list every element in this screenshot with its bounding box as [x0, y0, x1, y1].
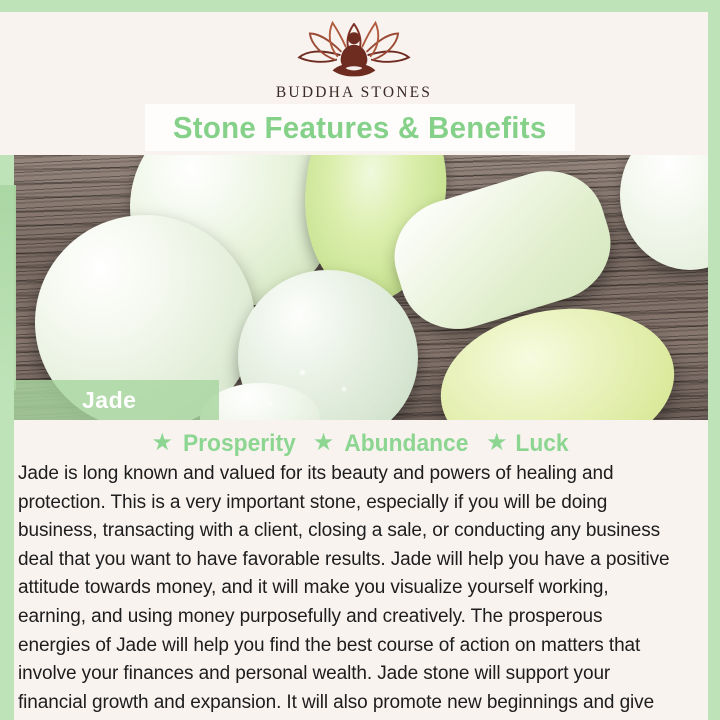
- benefit-label: Abundance: [345, 430, 469, 458]
- benefit-label: Prosperity: [183, 430, 296, 458]
- sparkle: [300, 370, 305, 375]
- benefit-label: Luck: [516, 430, 569, 458]
- brand-logo: BUDDHA STONES: [276, 18, 432, 102]
- benefit-item: ★ Prosperity: [152, 430, 299, 458]
- star-icon: ★: [313, 431, 335, 455]
- stone-info-card: BUDDHA STONES Stone Features & Benefits …: [0, 0, 720, 720]
- stone-name-banner: Jade: [14, 380, 219, 420]
- sparkle: [268, 402, 272, 406]
- star-icon: ★: [152, 431, 174, 455]
- lotus-meditation-icon: [288, 18, 420, 80]
- benefit-item: ★ Luck: [486, 430, 571, 458]
- description-block: Jade is long known and valued for its be…: [14, 459, 708, 704]
- brand-name: BUDDHA STONES: [276, 84, 432, 102]
- benefit-item: ★ Abundance: [313, 430, 472, 458]
- sparkle: [342, 387, 346, 391]
- stone-name: Jade: [82, 387, 136, 414]
- right-green-strip: [708, 0, 720, 720]
- star-icon: ★: [486, 431, 508, 455]
- benefits-row: ★ Prosperity ★ Abundance ★ Luck: [14, 425, 708, 463]
- page-title: Stone Features & Benefits: [173, 110, 547, 146]
- left-green-accent: [0, 185, 16, 390]
- description-text: Jade is long known and valued for its be…: [18, 459, 678, 720]
- page-title-band: Stone Features & Benefits: [145, 104, 575, 151]
